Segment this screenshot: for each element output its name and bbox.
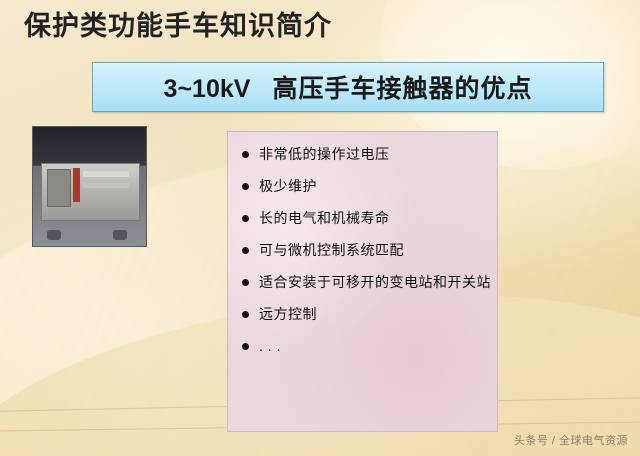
bullet-dot-icon: [242, 279, 249, 286]
banner-text: 3~10kV高压手车接触器的优点: [164, 69, 533, 105]
photo-red-indicator: [73, 168, 80, 202]
list-item-label: 极少维护: [259, 176, 317, 197]
photo-control-panel: [47, 169, 71, 207]
list-item-label: 远方控制: [259, 304, 317, 325]
banner-subject: 高压手车接触器的优点: [272, 75, 532, 103]
banner-voltage: 3~10kV: [164, 75, 251, 103]
list-item-label: 适合安装于可移开的变电站和开关站: [259, 272, 491, 293]
banner-heading: 3~10kV高压手车接触器的优点: [92, 62, 604, 112]
list-item: 适合安装于可移开的变电站和开关站: [228, 272, 497, 293]
content-panel: 非常低的操作过电压 极少维护 长的电气和机械寿命 可与微机控制系统匹配 适合安装…: [227, 131, 498, 432]
list-item: 可与微机控制系统匹配: [228, 240, 497, 261]
bullet-dot-icon: [242, 247, 249, 254]
bullet-dot-icon: [242, 311, 249, 318]
slide-canvas: 保护类功能手车知识简介 3~10kV高压手车接触器的优点 非常低的操作过电压 极…: [0, 0, 640, 456]
list-item: 非常低的操作过电压: [228, 144, 497, 165]
list-item-label: 长的电气和机械寿命: [259, 208, 390, 229]
list-item-label: . . .: [259, 336, 281, 357]
photo-label-stripe-2: [83, 183, 129, 188]
list-item: 极少维护: [228, 176, 497, 197]
bullet-dot-icon: [242, 183, 249, 190]
list-item-label: 可与微机控制系统匹配: [259, 240, 404, 261]
photo-label-stripe-1: [83, 171, 129, 177]
photo-wheel-left: [47, 230, 61, 240]
photo-wheel-right: [113, 230, 127, 240]
list-item-label: 非常低的操作过电压: [259, 144, 390, 165]
list-item: . . .: [228, 336, 497, 357]
bullet-list: 非常低的操作过电压 极少维护 长的电气和机械寿命 可与微机控制系统匹配 适合安装…: [228, 144, 497, 368]
photo-dark-background: [33, 127, 146, 161]
page-title: 保护类功能手车知识简介: [24, 4, 332, 43]
list-item: 长的电气和机械寿命: [228, 208, 497, 229]
watermark: 头条号 / 全球电气资源: [514, 432, 628, 448]
equipment-photo: [32, 126, 147, 247]
bullet-dot-icon: [242, 343, 249, 350]
list-item: 远方控制: [228, 304, 497, 325]
bullet-dot-icon: [242, 151, 249, 158]
bullet-dot-icon: [242, 215, 249, 222]
